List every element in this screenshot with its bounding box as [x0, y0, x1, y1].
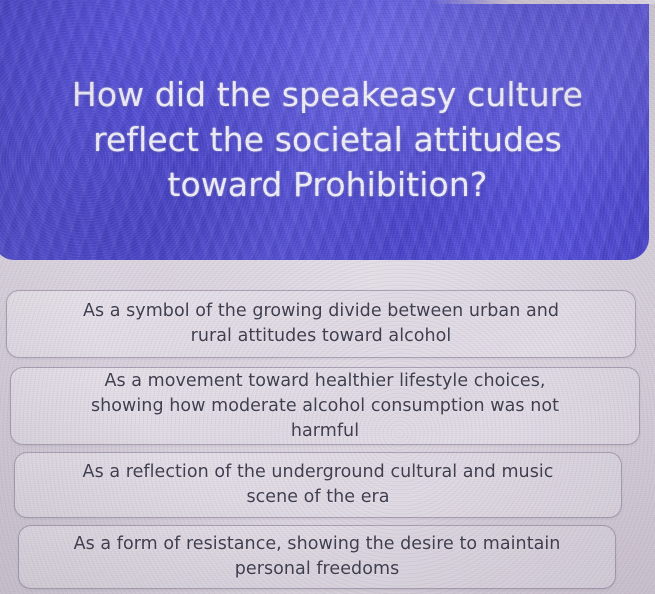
- answer-option-3[interactable]: As a reflection of the underground cultu…: [14, 452, 622, 518]
- answer-option-3-label: As a reflection of the underground cultu…: [15, 460, 621, 510]
- answer-option-2[interactable]: As a movement toward healthier lifestyle…: [10, 367, 640, 445]
- quiz-screen-photo: How did the speakeasy culture reflect th…: [0, 0, 655, 594]
- answer-option-4-label: As a form of resistance, showing the des…: [19, 532, 615, 582]
- answer-option-1[interactable]: As a symbol of the growing divide betwee…: [6, 290, 636, 358]
- answer-option-4[interactable]: As a form of resistance, showing the des…: [18, 525, 616, 589]
- answer-option-2-label: As a movement toward healthier lifestyle…: [11, 369, 639, 444]
- question-text: How did the speakeasy culture reflect th…: [6, 72, 649, 207]
- answer-option-1-label: As a symbol of the growing divide betwee…: [7, 299, 635, 349]
